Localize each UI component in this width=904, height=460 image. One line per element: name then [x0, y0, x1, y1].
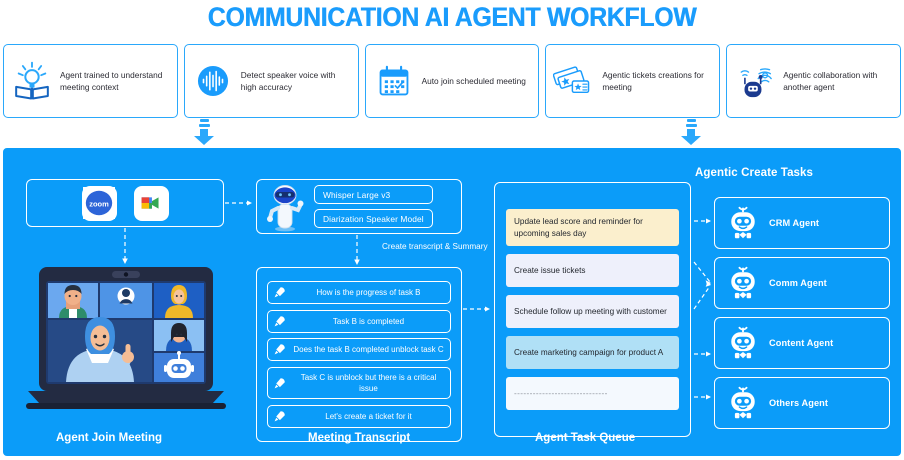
svg-text:zoom: zoom — [89, 199, 109, 208]
rocket-icon — [273, 377, 286, 390]
calendar-icon — [373, 60, 415, 102]
video-meeting-illustration — [26, 265, 226, 417]
transcript-line[interactable]: Let's create a ticket for it — [267, 405, 451, 428]
transcript-line[interactable]: Task C is unblock but there is a critica… — [267, 367, 451, 399]
caption-agent-join-meeting: Agent Join Meeting — [56, 432, 162, 444]
agent-label: Others Agent — [769, 398, 828, 408]
feature-label: Agentic collaboration with another agent — [783, 69, 893, 93]
lightbulb-book-icon — [11, 60, 53, 102]
transcript-text: Does the task B completed unblock task C — [292, 344, 445, 355]
robot-agent-icon — [725, 205, 761, 241]
down-arrow-right — [680, 119, 702, 146]
asr-robot-icon — [261, 182, 309, 232]
feature-card-agent-trained[interactable]: Agent trained to understand meeting cont… — [3, 44, 178, 118]
zoom-logo[interactable]: zoom — [82, 186, 117, 221]
agent-cards-column: CRM Agent Comm Agent — [714, 197, 890, 429]
agent-task-queue-box: Update lead score and reminder for upcom… — [494, 182, 691, 437]
meeting-transcript-box: How is the progress of task B Task B is … — [256, 267, 462, 442]
rocket-icon — [273, 315, 286, 328]
agent-label: Content Agent — [769, 338, 833, 348]
queue-item[interactable]: Create issue tickets — [506, 254, 679, 287]
transcript-text: Let's create a ticket for it — [292, 411, 445, 422]
queue-item[interactable]: Schedule follow up meeting with customer — [506, 295, 679, 328]
feature-card-detect-voice[interactable]: Detect speaker voice with high accuracy — [184, 44, 359, 118]
rocket-icon — [273, 286, 286, 299]
asr-model-pills: Whisper Large v3 Diarization Speaker Mod… — [314, 185, 433, 228]
page-title: COMMUNICATION AI AGENT WORKFLOW — [36, 2, 868, 33]
transcript-line[interactable]: Does the task B completed unblock task C — [267, 338, 451, 361]
caption-meeting-transcript: Meeting Transcript — [308, 432, 410, 444]
tickets-icon — [553, 60, 595, 102]
agent-card-comm[interactable]: Comm Agent — [714, 257, 890, 309]
feature-card-row: Agent trained to understand meeting cont… — [3, 44, 901, 118]
workflow-infographic: COMMUNICATION AI AGENT WORKFLOW — [0, 0, 904, 460]
transcript-text: Task B is completed — [292, 316, 445, 327]
robot-agent-icon — [725, 325, 761, 361]
rocket-icon — [273, 343, 286, 356]
agent-card-others[interactable]: Others Agent — [714, 377, 890, 429]
feature-label: Auto join scheduled meeting — [422, 75, 526, 87]
queue-item-placeholder[interactable]: ------------------------------ — [506, 377, 679, 410]
transcript-line[interactable]: Task B is completed — [267, 310, 451, 333]
meeting-platforms-box: zoom — [26, 179, 224, 227]
queue-item[interactable]: Create marketing campaign for product A — [506, 336, 679, 369]
feature-card-agentic-collaboration[interactable]: Agentic collaboration with another agent — [726, 44, 901, 118]
caption-agent-task-queue: Agent Task Queue — [535, 432, 635, 444]
agent-card-content[interactable]: Content Agent — [714, 317, 890, 369]
workflow-main-panel: zoom — [3, 148, 901, 456]
agent-card-crm[interactable]: CRM Agent — [714, 197, 890, 249]
robot-fingerprint-icon — [734, 60, 776, 102]
queue-item[interactable]: Update lead score and reminder for upcom… — [506, 209, 679, 247]
feature-label: Agentic tickets creations for meeting — [602, 69, 712, 93]
model-pill-diarization[interactable]: Diarization Speaker Model — [314, 209, 433, 228]
feature-label: Detect speaker voice with high accuracy — [241, 69, 351, 93]
feature-label: Agent trained to understand meeting cont… — [60, 69, 170, 93]
agent-label: CRM Agent — [769, 218, 819, 228]
robot-agent-icon — [725, 385, 761, 421]
google-meet-logo[interactable] — [134, 186, 169, 221]
robot-agent-icon — [725, 265, 761, 301]
agent-label: Comm Agent — [769, 278, 827, 288]
down-arrow-left — [193, 119, 215, 146]
voice-waveform-icon — [192, 60, 234, 102]
transcript-text: Task C is unblock but there is a critica… — [292, 372, 445, 394]
asr-models-box: Whisper Large v3 Diarization Speaker Mod… — [256, 179, 462, 234]
feature-card-agentic-tickets[interactable]: Agentic tickets creations for meeting — [545, 44, 720, 118]
transcript-line[interactable]: How is the progress of task B — [267, 281, 451, 304]
feature-card-auto-join[interactable]: Auto join scheduled meeting — [365, 44, 540, 118]
agentic-create-tasks-heading: Agentic Create Tasks — [634, 167, 874, 179]
transcript-text: How is the progress of task B — [292, 287, 445, 298]
create-transcript-label: Create transcript & Summary — [382, 241, 488, 253]
rocket-icon — [273, 410, 286, 423]
model-pill-whisper[interactable]: Whisper Large v3 — [314, 185, 433, 204]
